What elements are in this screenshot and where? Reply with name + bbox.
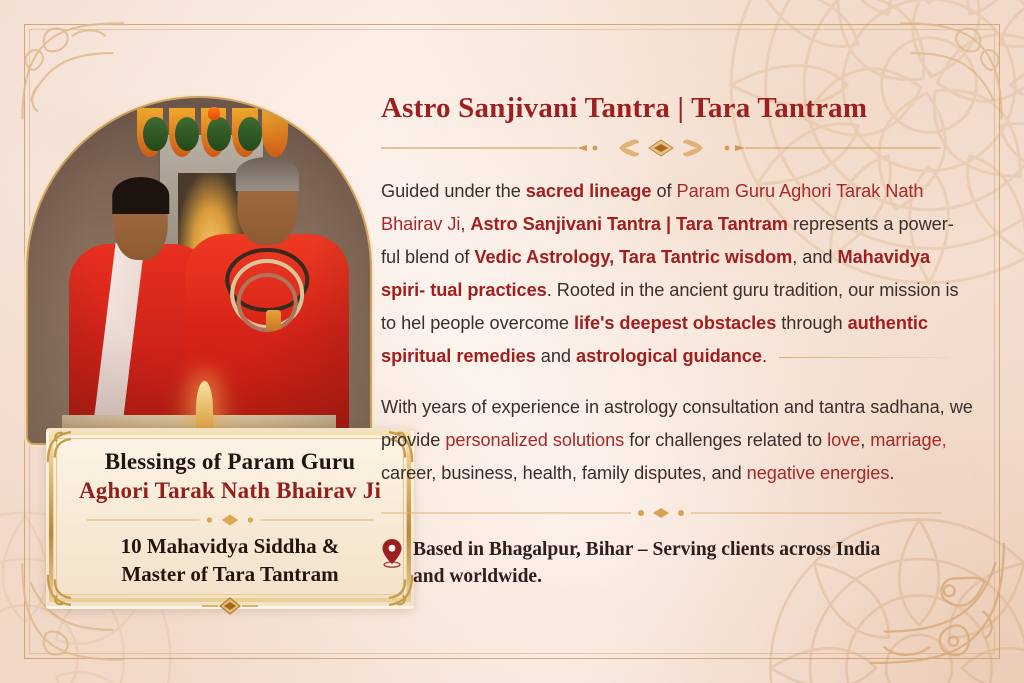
p2-s1: With years of experience in astrology co…: [381, 397, 945, 417]
p1-s7: Astro Sanjivani Tantra | Tara Tantram: [470, 214, 788, 234]
card-corner-ornament-bottom-left-icon: [41, 568, 87, 614]
p1-s10: Vedic Astrology, Tara Tantric wisdom: [474, 247, 792, 267]
p1-s11: , and: [792, 247, 837, 267]
p1-s2: sacred lineage: [526, 181, 652, 201]
p2-s10: .: [889, 463, 894, 483]
section-divider: [381, 504, 973, 522]
p2-s9: negative energies: [747, 463, 890, 483]
p1-s22: .: [762, 346, 767, 366]
guru-and-disciple-photo: [28, 98, 370, 443]
p2-s8: career, business, health, family dispute…: [381, 463, 747, 483]
p1-s9: ful blend of: [381, 247, 474, 267]
location-text: Based in Bhagalpur, Bihar – Serving clie…: [413, 536, 880, 590]
content-column: Astro Sanjivani Tantra | Tara Tantram: [381, 92, 973, 590]
caption-subtitle-1: 10 Mahavidya Siddha &: [63, 533, 397, 561]
caption-line-1: Blessings of Param Guru: [63, 447, 397, 476]
promo-banner: Blessings of Param Guru Aghori Tarak Nat…: [0, 0, 1024, 683]
location-line-2: and worldwide.: [413, 563, 880, 590]
p1-s1: Guided under the: [381, 181, 526, 201]
p1-s15: people overcome: [430, 313, 574, 333]
p1-s8: represents a power-: [788, 214, 954, 234]
experience-paragraph: With years of experience in astrology co…: [381, 391, 973, 490]
p2-s4: for challenges related to: [624, 430, 827, 450]
blessings-caption-card: Blessings of Param Guru Aghori Tarak Nat…: [46, 428, 414, 609]
card-bottom-diamond-ornament-icon: [202, 595, 258, 617]
guru-photo-frame: [28, 98, 370, 443]
p2-s6: ,: [860, 430, 870, 450]
p2-s7: marriage,: [870, 430, 946, 450]
title-divider: [381, 137, 973, 159]
caption-subtitle-2: Master of Tara Tantram: [63, 561, 397, 589]
p2-s3: personalized solutions: [445, 430, 624, 450]
location-line-1: Based in Bhagalpur, Bihar – Serving clie…: [413, 536, 880, 563]
paragraph-end-rule: [779, 357, 949, 358]
caption-divider: [87, 513, 373, 527]
map-pin-icon: [381, 538, 403, 568]
photo-column: Blessings of Param Guru Aghori Tarak Nat…: [28, 98, 370, 443]
p1-s5: Bhairav Ji: [381, 214, 460, 234]
intro-paragraph: Guided under the sacred lineage of Param…: [381, 175, 973, 373]
p2-s5: love: [827, 430, 860, 450]
p1-s13: tual practices: [430, 280, 547, 300]
caption-line-2: Aghori Tarak Nath Bhairav Ji: [63, 476, 397, 505]
p1-s19: remedies: [456, 346, 535, 366]
p1-s20: and: [536, 346, 576, 366]
p1-s3: of: [651, 181, 676, 201]
card-corner-ornament-top-left-icon: [41, 423, 87, 469]
p1-s17: through: [776, 313, 847, 333]
p1-s16: life's deepest obstacles: [574, 313, 776, 333]
page-title: Astro Sanjivani Tantra | Tara Tantram: [381, 92, 973, 125]
p1-s21: astrological guidance: [576, 346, 762, 366]
p1-s4: Param Guru Aghori Tarak Nath: [677, 181, 924, 201]
photo-vignette: [28, 98, 370, 443]
location-row: Based in Bhagalpur, Bihar – Serving clie…: [381, 536, 973, 590]
p1-s6: ,: [460, 214, 470, 234]
